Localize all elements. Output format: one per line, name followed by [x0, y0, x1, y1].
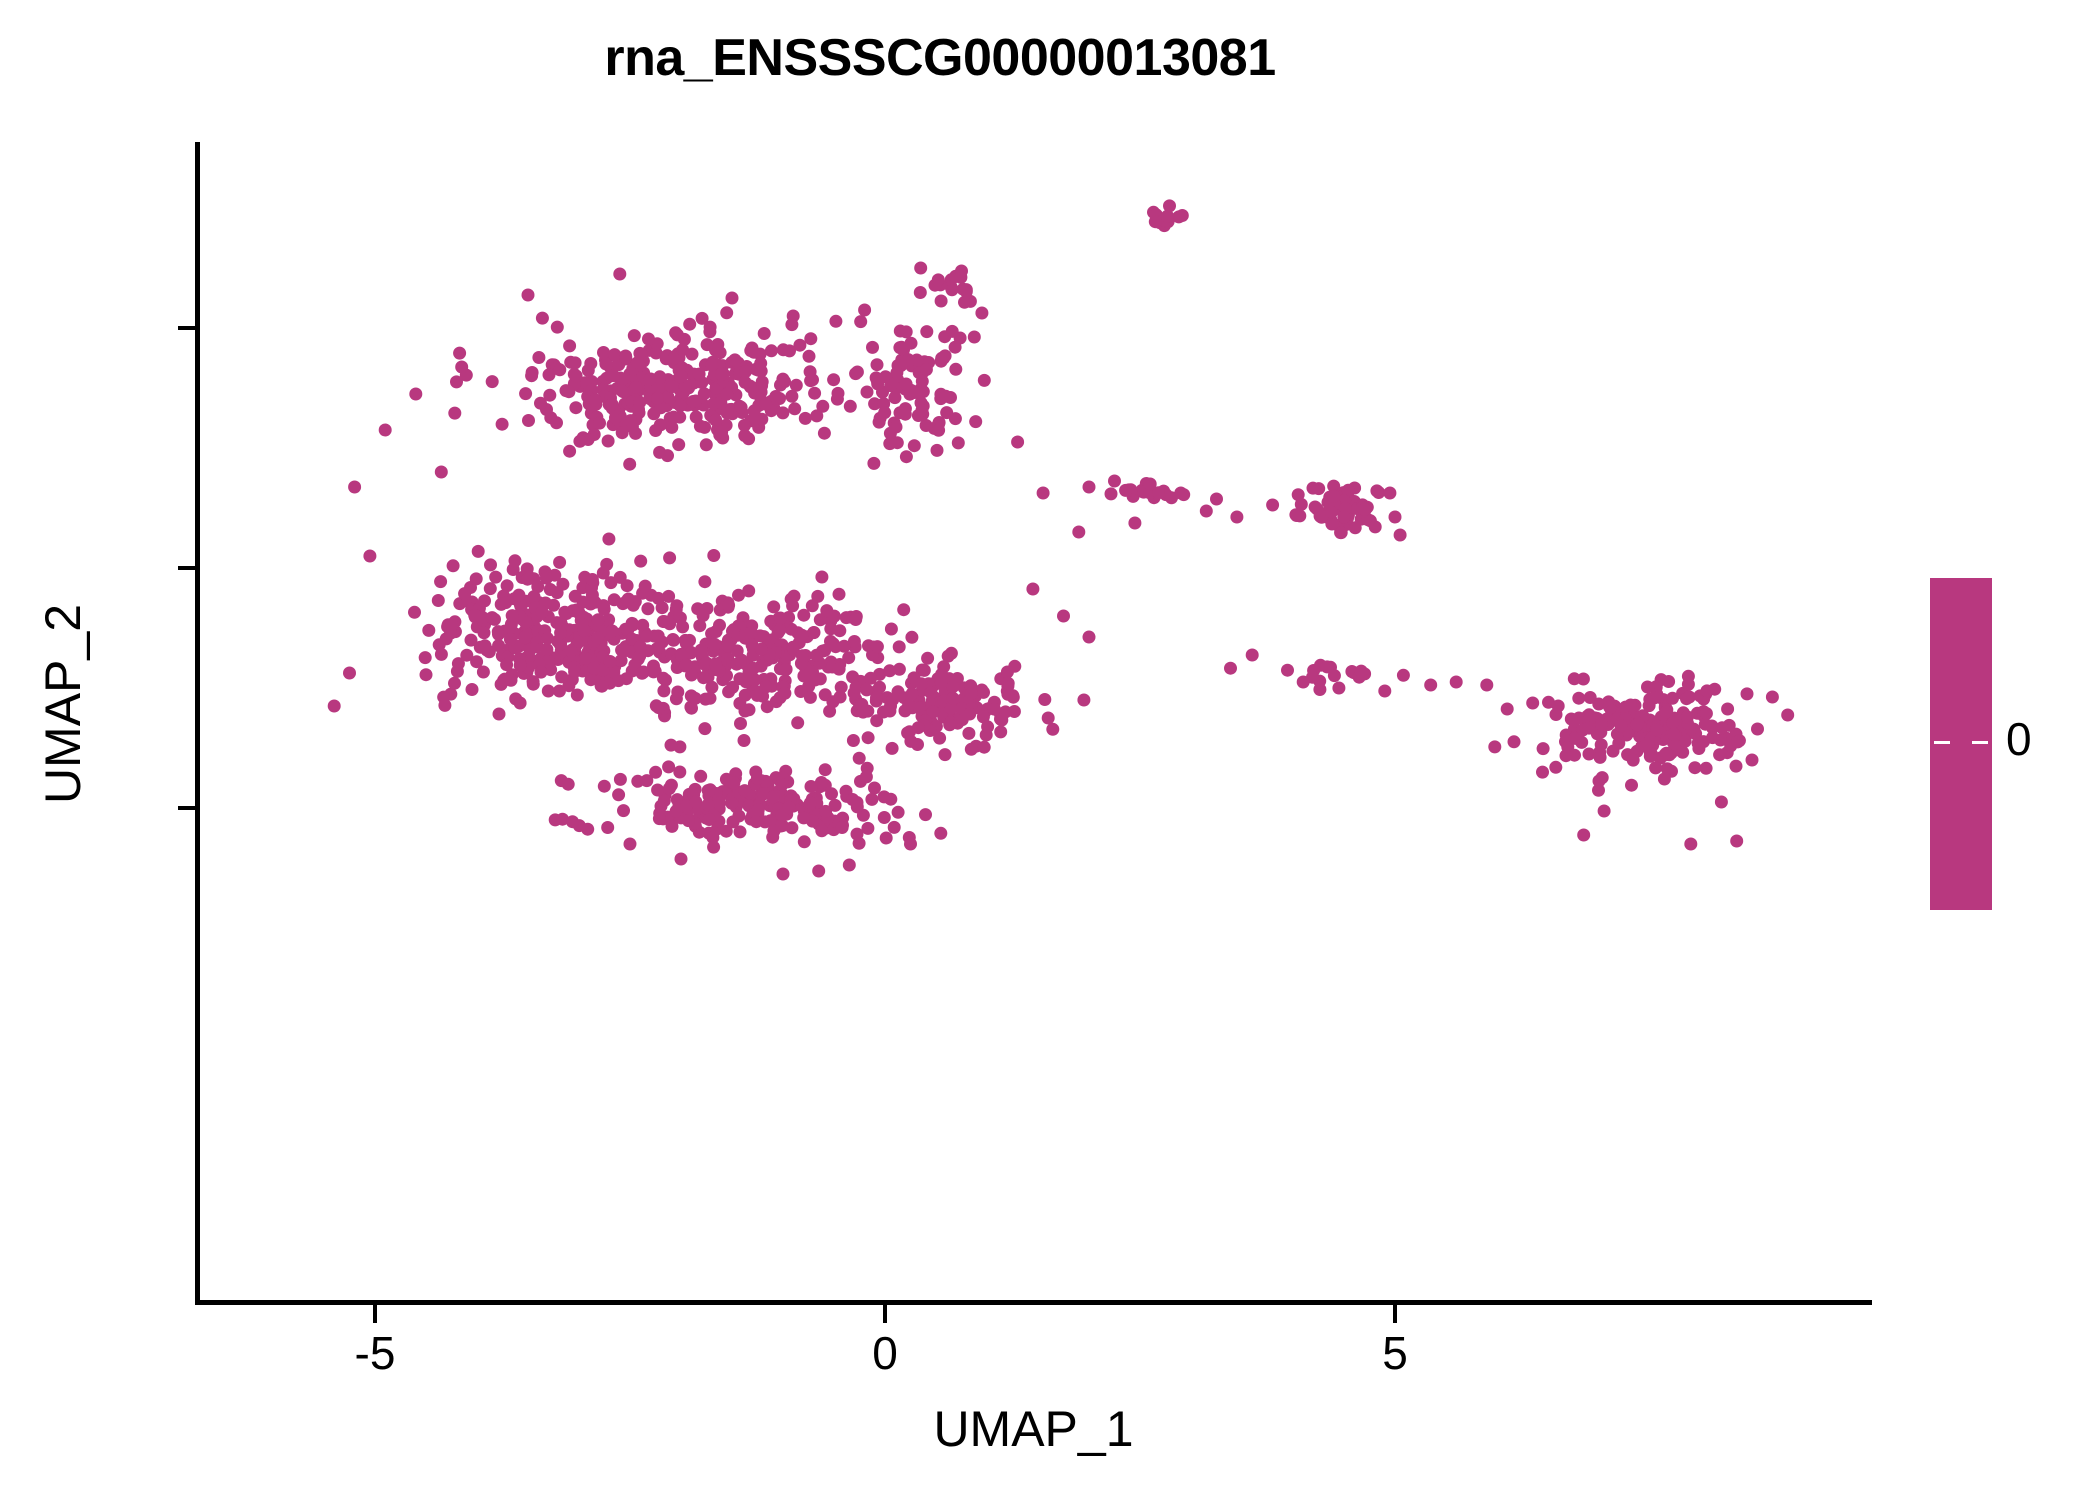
x-tick-mark — [373, 1305, 377, 1323]
x-tick-label: 5 — [1335, 1330, 1455, 1376]
x-tick-label: -5 — [315, 1330, 435, 1376]
colorbar-tick-right-icon — [1972, 741, 1988, 744]
y-tick-mark — [178, 566, 196, 570]
y-tick-mark — [178, 806, 196, 810]
chart-root: rna_ENSSSCG00000013081 40-4 -505 UMAP_1 … — [0, 0, 2100, 1500]
x-axis-line — [195, 1300, 1872, 1305]
y-axis-line — [195, 142, 200, 1305]
colorbar-tick-left-icon — [1934, 741, 1950, 744]
y-axis-title: UMAP_2 — [34, 354, 92, 1054]
legend-colorbar: 0 — [1930, 578, 2080, 918]
x-tick-mark — [1393, 1305, 1397, 1323]
x-axis-title: UMAP_1 — [195, 1400, 1872, 1458]
plot-panel: 40-4 -505 UMAP_1 UMAP_2 — [0, 0, 2100, 1500]
x-tick-mark — [883, 1305, 887, 1323]
scatter-layer — [0, 0, 2100, 1500]
scatter-points — [328, 199, 1795, 880]
y-tick-mark — [178, 326, 196, 330]
colorbar-tick-label: 0 — [2006, 716, 2032, 762]
x-tick-label: 0 — [825, 1330, 945, 1376]
colorbar-gradient — [1930, 578, 1992, 910]
